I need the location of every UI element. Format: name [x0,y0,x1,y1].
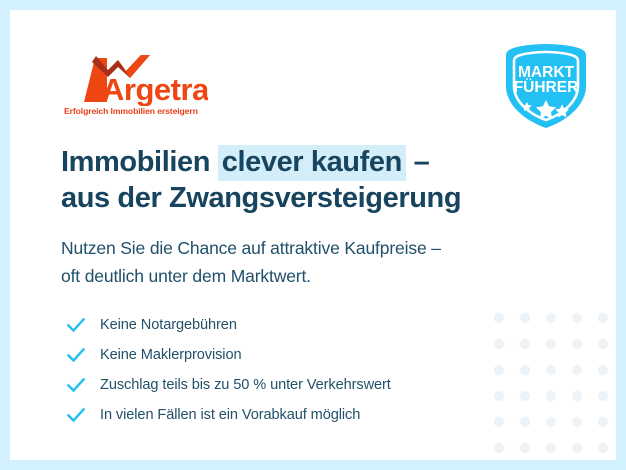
list-item-label: In vielen Fällen ist ein Vorabkauf mögli… [100,407,360,423]
list-item: In vielen Fällen ist ein Vorabkauf mögli… [66,400,506,430]
promo-banner: Argetra Erfolgreich Immobilien ersteiger… [0,0,626,470]
list-item-label: Zuschlag teils bis zu 50 % unter Verkehr… [100,377,391,393]
headline-line-2: aus der Zwangsversteigerung [61,180,531,216]
benefit-list: Keine Notargebühren Keine Maklerprovisio… [66,310,506,430]
list-item: Zuschlag teils bis zu 50 % unter Verkehr… [66,370,506,400]
list-item: Keine Notargebühren [66,310,506,340]
subheading-line-1: Nutzen Sie die Chance auf attraktive Kau… [61,234,541,262]
svg-text:Argetra: Argetra [102,72,208,106]
badge-line2: FÜHRER [514,79,579,96]
check-icon [66,345,86,365]
subheading-line-2: oft deutlich unter dem Marktwert. [61,262,541,290]
headline-line1-after: – [406,146,429,178]
list-item: Keine Maklerprovision [66,340,506,370]
list-item-label: Keine Maklerprovision [100,347,241,363]
subheading: Nutzen Sie die Chance auf attraktive Kau… [61,234,541,290]
check-icon [66,315,86,335]
shield-badge-icon: MARKT FÜHRER [499,42,593,130]
argetra-logo[interactable]: Argetra Erfolgreich Immobilien ersteiger… [62,50,208,118]
logo-tagline: Erfolgreich Immobilien ersteigern [64,106,198,116]
promo-card: Argetra Erfolgreich Immobilien ersteiger… [10,10,616,460]
headline-line1-before: Immobilien [61,146,218,178]
check-icon [66,375,86,395]
check-icon [66,405,86,425]
page-title: Immobilien clever kaufen – aus der Zwang… [61,144,531,216]
logo-mark-icon: Argetra [62,50,208,106]
list-item-label: Keine Notargebühren [100,317,237,333]
market-leader-badge: MARKT FÜHRER [499,42,593,130]
headline-line-1: Immobilien clever kaufen – [61,144,531,180]
headline-highlight: clever kaufen [218,145,406,181]
